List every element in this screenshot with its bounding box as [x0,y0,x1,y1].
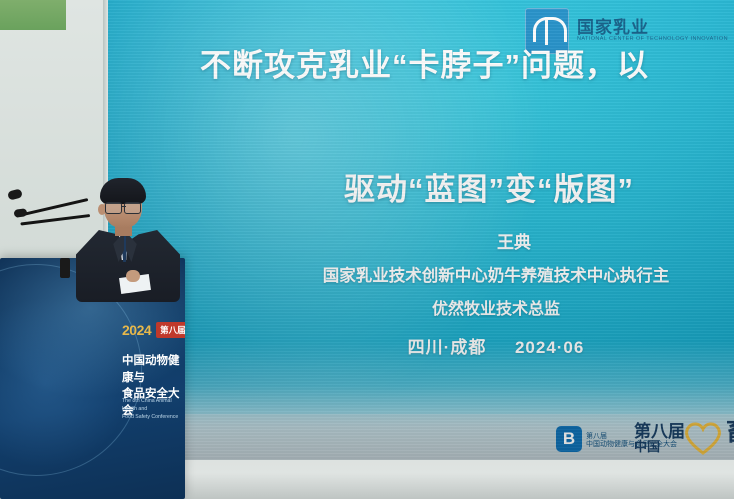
podium-year-row: 2024 第八届 [122,322,185,338]
presenter-role-line-1: 国家乳业技术创新中心奶牛养殖技术中心执行主 [258,262,734,286]
slide-logo-cn: 国家乳业 [577,19,728,37]
slide-title-line-1: 不断攻克乳业“卡脖子”问题，以 [200,40,649,85]
banner-edition-big: 第八届 [634,422,685,441]
slide-title-line-2: 驱动“蓝图”变“版图” [344,164,634,209]
podium-title-en-line-1: The 8th China Animal Health and [122,398,185,414]
banner-brand: 畜 牧 安全大会 [726,412,734,448]
presenter-role-line-2: 优然牧业技术总监 [258,295,734,319]
podium-year: 2024 [122,322,151,338]
banner-brand-main: 畜 牧 [726,418,734,446]
podium-edition-chip: 第八届 [156,322,185,338]
podium-title-en-line-2: Food Safety Conference [122,414,185,422]
heart-icon [682,418,724,456]
microphone-base [60,258,70,278]
speaker-hair [100,178,146,204]
speaker-person [70,178,190,298]
podium-title-en: The 8th China Animal Health and Food Saf… [122,398,185,421]
banner-badge: B [556,426,582,452]
banner-edition-small: 中国 [634,440,685,454]
photo-scene: 国家乳业 NATIONAL CENTER OF TECHNOLOGY INNOV… [0,0,734,499]
conference-banner: B 第八届 中国动物健康与食品安全大会 第八届 中国 畜 牧 安全大会 xumu… [438,414,734,460]
presenter-name: 王典 [294,228,734,253]
banner-edition: 第八届 中国 [634,423,685,454]
wall-green-accent [0,0,66,30]
speaker-hand [126,270,140,282]
presentation-screen: 国家乳业 NATIONAL CENTER OF TECHNOLOGY INNOV… [108,0,734,460]
slide-presenter-block: 王典 国家乳业技术创新中心奶牛养殖技术中心执行主 优然牧业技术总监 四川·成都 … [108,228,734,358]
glasses-icon [104,202,142,212]
podium-title-cn-line-1: 中国动物健康与 [122,353,185,386]
